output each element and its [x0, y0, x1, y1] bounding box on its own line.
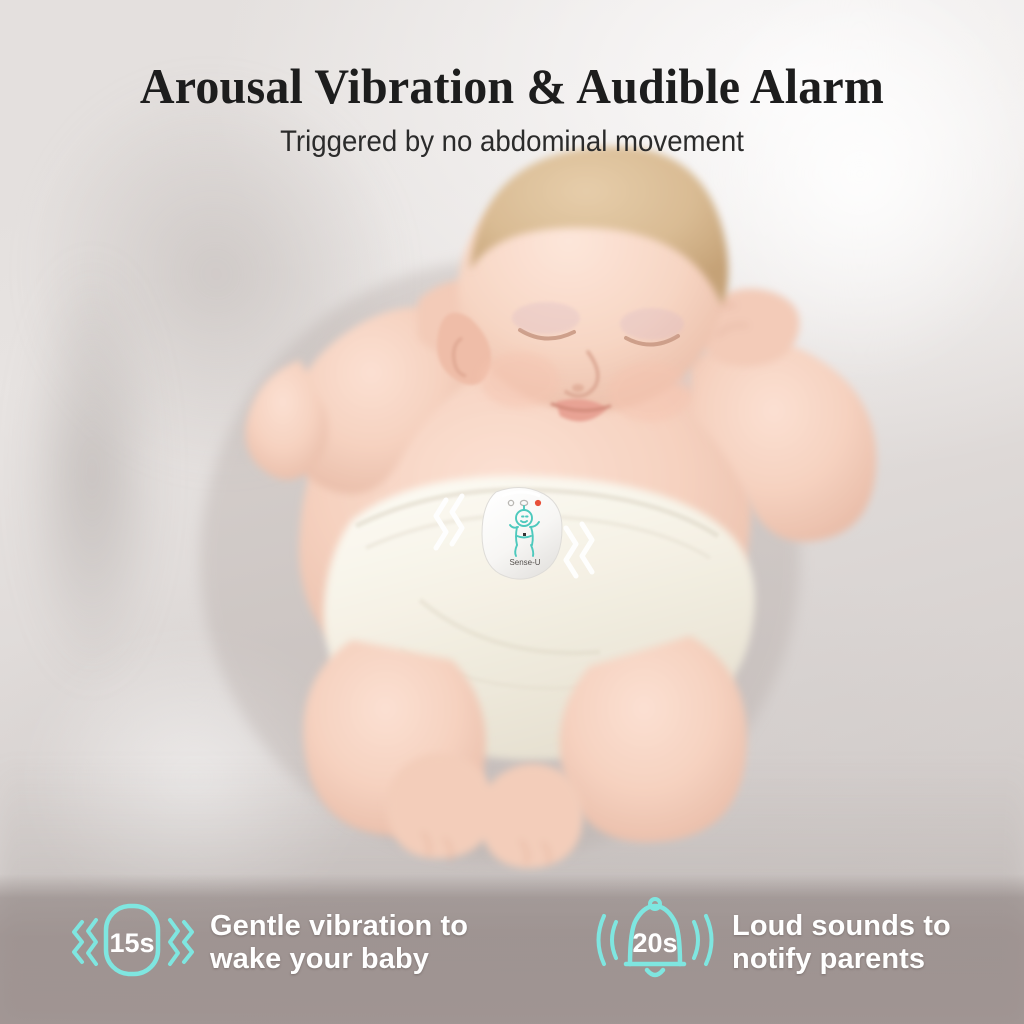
device-brand-label: Sense-U	[509, 558, 540, 567]
sense-u-monitor-device: Sense-U	[470, 470, 580, 580]
baby-head	[437, 146, 728, 422]
feature-vibration-line2: wake your baby	[210, 943, 468, 976]
feature-alarm-line2: notify parents	[732, 943, 951, 976]
feature-alarm: 20s Loud sounds to notify parents	[592, 892, 951, 993]
feature-vibration-text: Gentle vibration to wake your baby	[210, 910, 468, 976]
vibration-duration-badge: 15s	[109, 928, 154, 958]
feature-vibration-line1: Gentle vibration to	[210, 910, 468, 943]
feature-alarm-line1: Loud sounds to	[732, 910, 951, 943]
feature-alarm-text: Loud sounds to notify parents	[732, 910, 951, 976]
page-title: Arousal Vibration & Audible Alarm	[20, 57, 1003, 115]
alarm-duration-badge: 20s	[632, 928, 677, 958]
vibration-timer-icon: 15s	[66, 892, 196, 993]
feature-band: 15s Gentle vibration to wake your baby	[0, 874, 1024, 1024]
page-subtitle: Triggered by no abdominal movement	[41, 125, 983, 159]
product-marketing-image: Sense-U Arousal Vibration & Audible Alar…	[0, 0, 1024, 1024]
bell-timer-icon: 20s	[592, 892, 718, 993]
device-sensor-dot	[523, 533, 526, 536]
alert-led-icon	[535, 500, 541, 506]
feature-vibration: 15s Gentle vibration to wake your baby	[66, 892, 468, 993]
